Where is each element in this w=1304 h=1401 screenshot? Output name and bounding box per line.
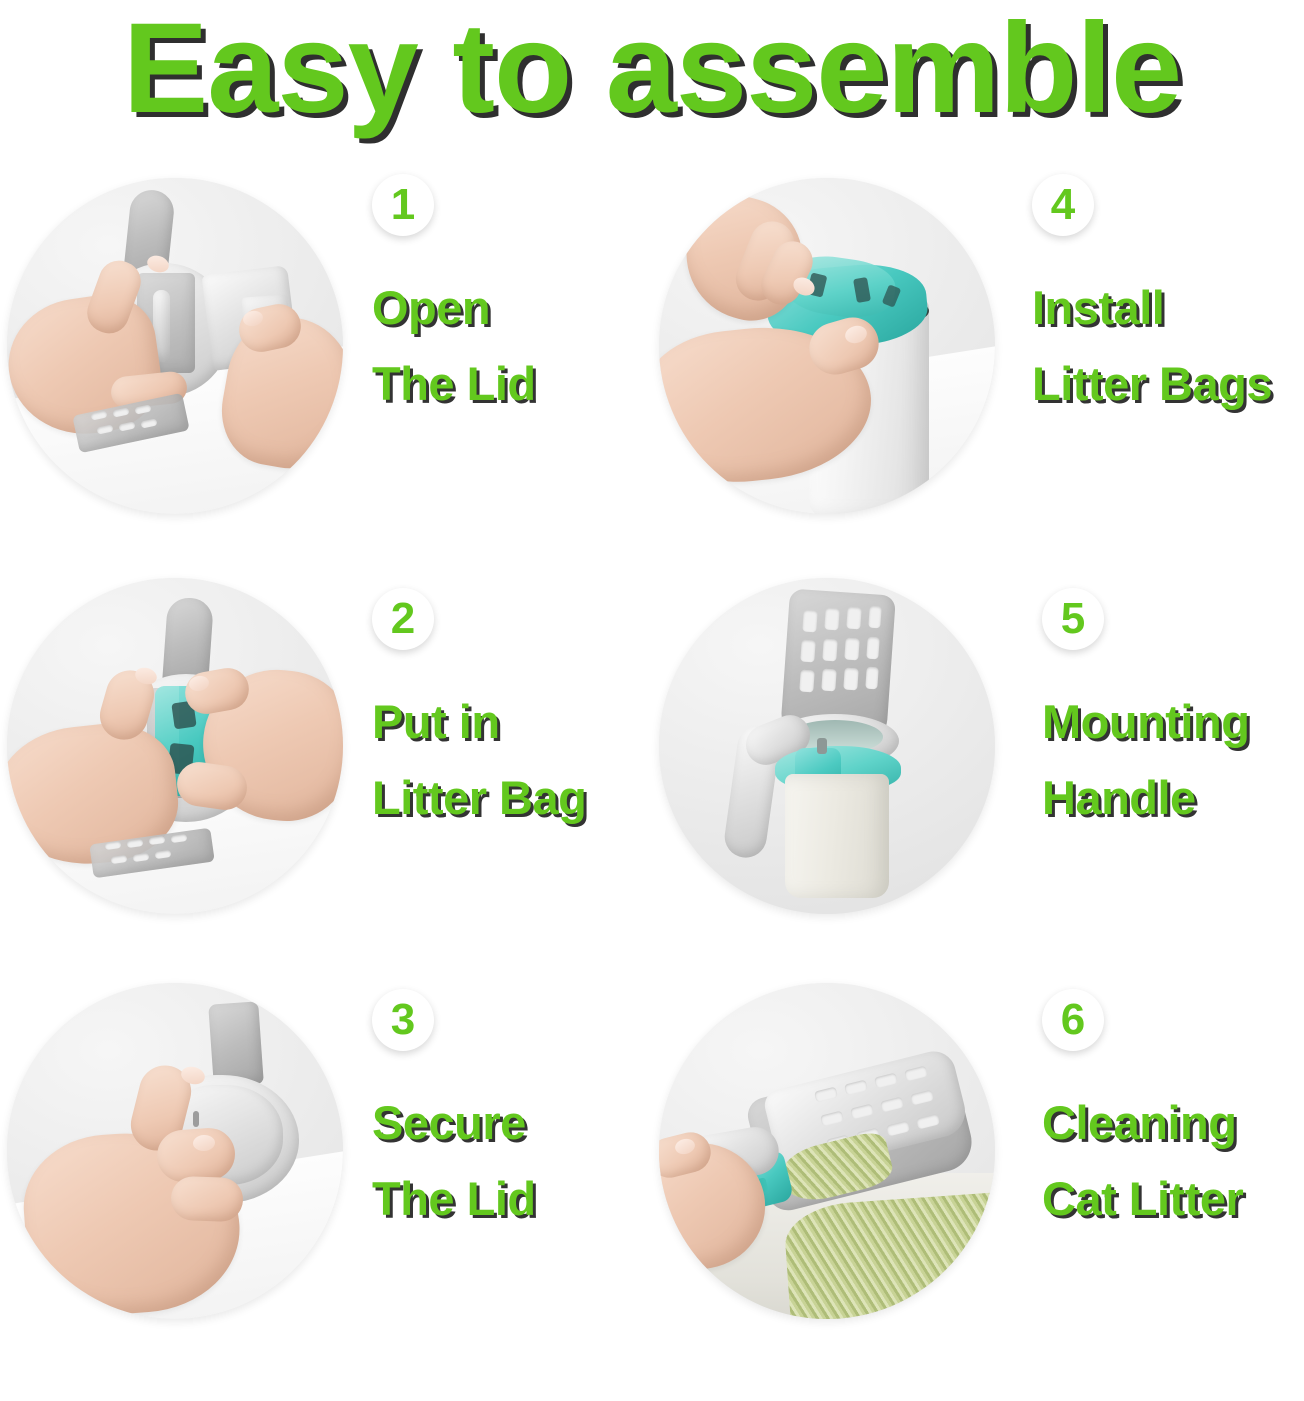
step-label-line1-3: Secure [372,1085,652,1161]
step-photo-3 [7,983,343,1319]
step-label-line1-6: Cleaning [1042,1085,1304,1161]
step-number-badge-5: 5 [1042,588,1104,650]
step-photo-1 [7,178,343,514]
step-label-line2-6: Cat Litter [1042,1161,1304,1237]
step-label-1: Open The Lid [372,270,652,422]
steps-grid: 1 Open The Lid [0,170,1304,1401]
step-photo-wrap-5 [652,570,1002,914]
step-card-4: 4 Install Litter Bags [652,170,1304,570]
step-number-badge-6: 6 [1042,989,1104,1051]
page-header: Easy to assemble [0,0,1304,170]
step-card-2: 2 Put in Litter Bag [0,570,652,975]
step-label-5: Mounting Handle [1042,684,1304,836]
step-photo-2 [7,578,343,914]
step-card-3: 3 Secure The Lid [0,975,652,1401]
step-label-4: Install Litter Bags [1032,270,1304,422]
step-text-2: 2 Put in Litter Bag [350,570,652,836]
step-photo-4 [659,178,995,514]
step-number-badge-3: 3 [372,989,434,1051]
step-label-line1-2: Put in [372,684,652,760]
step-label-6: Cleaning Cat Litter [1042,1085,1304,1237]
step-photo-wrap-6 [652,975,1002,1319]
step-number-badge-4: 4 [1032,174,1094,236]
step-photo-wrap-4 [652,170,1002,514]
step-label-line2-1: The Lid [372,346,652,422]
step-label-line2-3: The Lid [372,1161,652,1237]
step-label-line2-4: Litter Bags [1032,346,1304,422]
step-text-1: 1 Open The Lid [350,170,652,422]
step-number-badge-1: 1 [372,174,434,236]
step-photo-wrap-3 [0,975,350,1319]
step-photo-6 [659,983,995,1319]
step-text-4: 4 Install Litter Bags [1002,170,1304,422]
step-card-5: 5 Mounting Handle [652,570,1304,975]
step-card-1: 1 Open The Lid [0,170,652,570]
step-photo-wrap-2 [0,570,350,914]
step-card-6: 6 Cleaning Cat Litter [652,975,1304,1401]
step-number-badge-2: 2 [372,588,434,650]
step-label-line2-2: Litter Bag [372,760,652,836]
step-text-3: 3 Secure The Lid [350,975,652,1237]
step-label-line2-5: Handle [1042,760,1304,836]
step-label-3: Secure The Lid [372,1085,652,1237]
step-photo-wrap-1 [0,170,350,514]
step-label-line1-1: Open [372,270,652,346]
step-label-line1-4: Install [1032,270,1304,346]
step-label-line1-5: Mounting [1042,684,1304,760]
step-text-5: 5 Mounting Handle [1002,570,1304,836]
step-text-6: 6 Cleaning Cat Litter [1002,975,1304,1237]
page-title: Easy to assemble [123,4,1181,135]
step-label-2: Put in Litter Bag [372,684,652,836]
step-photo-5 [659,578,995,914]
